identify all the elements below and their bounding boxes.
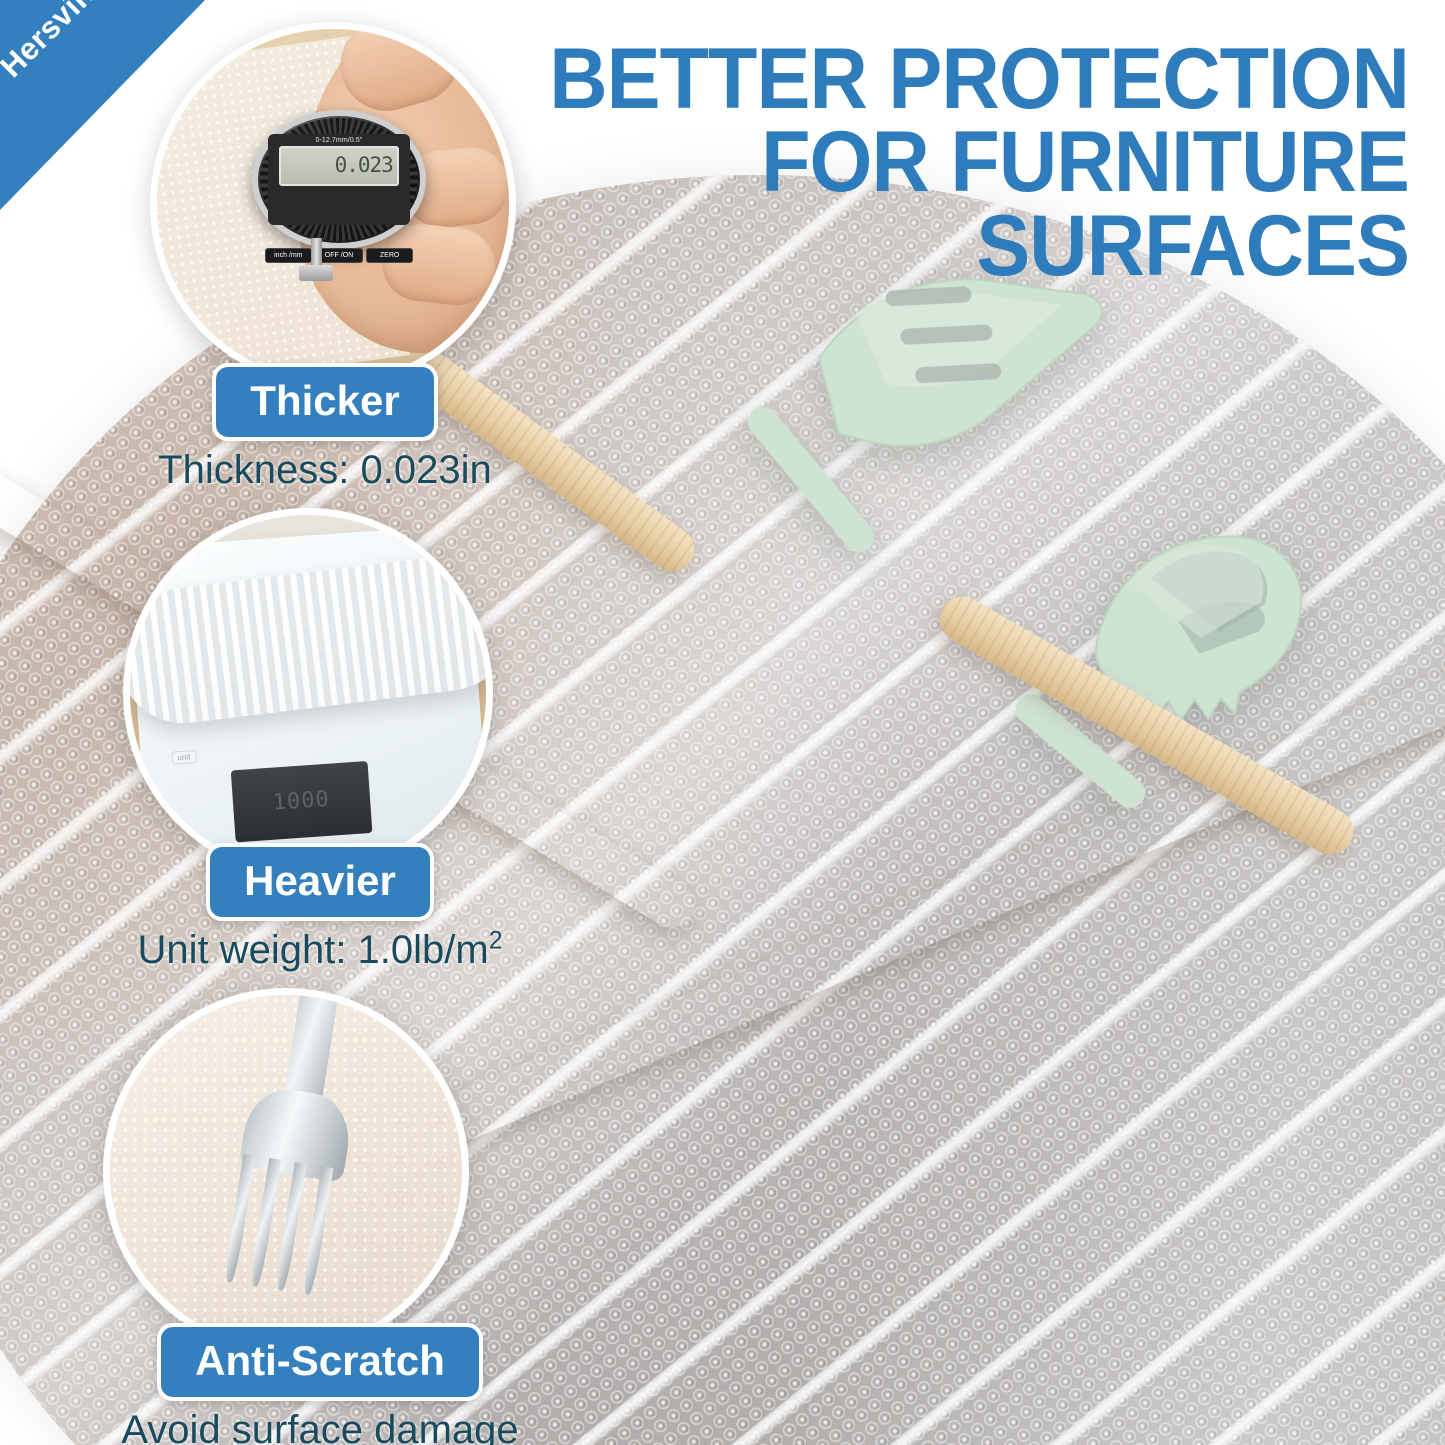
scale-reading: 1000 <box>272 789 330 815</box>
gauge-button-zero[interactable]: ZERO <box>366 248 414 263</box>
caption-thicker-text: Thickness: 0.023in <box>158 448 492 492</box>
fork-tine-2 <box>249 1158 281 1288</box>
gauge-lcd: 0.023 <box>279 146 399 187</box>
caption-heavier-superscript: 2 <box>489 928 503 955</box>
gauge-probe-foot <box>299 265 333 281</box>
caption-anti-scratch-text: Avoid surface damage <box>121 1408 518 1445</box>
headline-line-2: FOR FURNITURE <box>535 121 1409 204</box>
gauge-reading: 0.023 <box>335 155 393 176</box>
caption-thicker: Thickness: 0.023in <box>90 447 560 493</box>
fork-tine-3 <box>275 1162 307 1292</box>
inset-photo-fork-on-mat <box>103 988 469 1354</box>
badge-thicker: Thicker <box>212 363 437 441</box>
feature-thicker: Thicker Thickness: 0.023in <box>90 363 560 493</box>
badge-heavier: Heavier <box>206 843 434 921</box>
feature-anti-scratch: Anti-Scratch Avoid surface damage <box>50 1323 590 1445</box>
gauge-button-row: inch /mm OFF /ON ZERO <box>265 248 414 263</box>
fork-tine-4 <box>301 1166 333 1296</box>
product-marketing-image: BETTER PROTECTION FOR FURNITURE SURFACES… <box>0 0 1445 1445</box>
headline-line-1: BETTER PROTECTION <box>535 38 1409 121</box>
headline-line-3: SURFACES <box>535 205 1409 288</box>
caption-heavier: Unit weight: 1.0lb/m2 <box>60 927 580 973</box>
inset-photo-kitchen-scale: unit 1000 <box>123 508 493 878</box>
gauge-button-inch-mm[interactable]: inch /mm <box>265 248 313 263</box>
caption-heavier-text: Unit weight: 1.0lb/m <box>137 928 488 972</box>
caption-anti-scratch: Avoid surface damage <box>50 1407 590 1445</box>
badge-anti-scratch: Anti-Scratch <box>157 1323 483 1401</box>
feature-heavier: Heavier Unit weight: 1.0lb/m2 <box>60 843 580 973</box>
page-title: BETTER PROTECTION FOR FURNITURE SURFACES <box>535 38 1409 288</box>
scale-lcd: 1000 <box>231 762 372 843</box>
digital-thickness-gauge: 0-12.7mm/0.5" 0.023 inch /mm OFF /ON ZER… <box>252 110 426 249</box>
gauge-button-off-on[interactable]: OFF /ON <box>315 248 363 263</box>
gauge-face: 0-12.7mm/0.5" 0.023 <box>268 134 410 225</box>
gauge-spec-range: 0-12.7mm/0.5" <box>315 137 362 144</box>
scale-unit-button[interactable]: unit <box>171 751 197 766</box>
